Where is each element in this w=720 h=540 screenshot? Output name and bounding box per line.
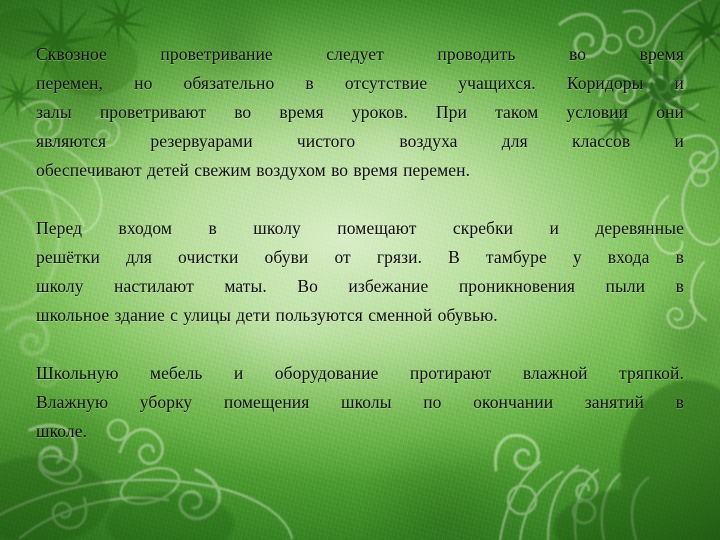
text-word: школы [341, 388, 392, 417]
paragraph-2: Передвходомвшколупомещаютскребкиидеревян… [36, 214, 684, 330]
text-word: школу [36, 272, 84, 301]
text-word: деревянные [595, 214, 684, 243]
text-word: чистого [297, 127, 355, 156]
text-word: резервуарами [150, 127, 252, 156]
text-word: свежим [194, 156, 251, 185]
text-word: залы [36, 98, 72, 127]
text-word: В [448, 243, 460, 272]
paragraph-1-line-3: залыпроветриваютвовремяуроков.Притакомус… [36, 98, 684, 127]
text-word: Перед [36, 214, 82, 243]
text-word: обуви [265, 243, 309, 272]
text-word: мебель [150, 359, 203, 388]
text-word: входа [608, 243, 650, 272]
text-word: но [134, 69, 152, 98]
paragraph-1: Сквозноепроветриваниеследуетпроводитьвов… [36, 40, 684, 185]
text-word: следует [326, 40, 384, 69]
text-word: в [676, 388, 684, 417]
text-word: время [640, 40, 684, 69]
paragraph-3-line-3: школе. [36, 417, 684, 446]
text-word: перемен, [36, 69, 103, 98]
text-word: время [353, 156, 397, 185]
text-word: Сквозное [36, 40, 107, 69]
text-word: проникновения [459, 272, 575, 301]
paragraph-1-line-1: Сквозноепроветриваниеследуетпроводитьвов… [36, 40, 684, 69]
text-word: проводить [437, 40, 515, 69]
text-word: во [569, 40, 586, 69]
text-word: и [675, 69, 684, 98]
text-word: во [234, 98, 251, 127]
text-word: занятий [585, 388, 644, 417]
text-word: школе. [36, 417, 87, 446]
text-word: окончании [473, 388, 553, 417]
text-word: уроков. [352, 98, 408, 127]
text-word: классов [572, 127, 630, 156]
text-word: в [305, 69, 313, 98]
text-word: время [279, 98, 323, 127]
text-word: тамбуре [486, 243, 547, 272]
text-word: для [126, 243, 152, 272]
text-word: проветривание [160, 40, 272, 69]
text-word: избежание [348, 272, 428, 301]
text-word: влажной [523, 359, 588, 388]
text-word: для [502, 127, 528, 156]
text-word: помещения [224, 388, 310, 417]
paragraph-2-line-2: решёткидляочисткиобувиотгрязи.Втамбуреув… [36, 243, 684, 272]
text-word: у [573, 243, 582, 272]
paragraph-3-line-2: Влажнуюуборкупомещенияшколыпоокончанииза… [36, 388, 684, 417]
text-word: по [423, 388, 441, 417]
text-word: во [331, 156, 348, 185]
text-word: от [334, 243, 350, 272]
text-word: в [676, 243, 684, 272]
text-word: тряпкой. [619, 359, 684, 388]
text-word: обувью. [438, 301, 498, 330]
text-word: грязи. [377, 243, 422, 272]
text-word: скребки [453, 214, 513, 243]
text-word: условии [566, 98, 628, 127]
text-word: сменной [368, 301, 432, 330]
text-word: в [209, 214, 217, 243]
paragraph-1-line-4: являютсярезервуарамичистоговоздухадлякла… [36, 127, 684, 156]
slide-text-body: Сквозноепроветриваниеследуетпроводитьвов… [36, 40, 684, 446]
paragraph-3-line-1: Школьнуюмебельиоборудованиепротираютвлаж… [36, 359, 684, 388]
text-word: таком [495, 98, 538, 127]
text-word: оборудование [275, 359, 379, 388]
text-word: здание [114, 301, 164, 330]
text-word: школьное [36, 301, 109, 330]
text-word: Влажную [36, 388, 108, 417]
text-word: помещают [337, 214, 416, 243]
text-word: обеспечивают [36, 156, 142, 185]
paragraph-2-line-3: школунастилаютматы.Воизбежаниепроникнове… [36, 272, 684, 301]
text-word: При [436, 98, 467, 127]
text-word: отсутствие [345, 69, 427, 98]
text-word: воздуха [399, 127, 457, 156]
text-word: в [676, 272, 684, 301]
text-word: маты. [224, 272, 267, 301]
text-word: и [234, 359, 243, 388]
paragraph-1-line-5: обеспечиваютдетейсвежимвоздухомвовремяпе… [36, 156, 684, 185]
paragraph-2-line-4: школьноезданиесулицыдетипользуютсясменно… [36, 301, 684, 330]
paragraph-3: Школьнуюмебельиоборудованиепротираютвлаж… [36, 359, 684, 446]
text-word: Школьную [36, 359, 119, 388]
text-word: пользуются [276, 301, 363, 330]
text-word: решётки [36, 243, 100, 272]
text-word: обязательно [184, 69, 275, 98]
text-word: пыли [606, 272, 646, 301]
text-word: Во [297, 272, 318, 301]
text-word: и [674, 127, 683, 156]
text-word: протирают [410, 359, 492, 388]
text-word: учащихся. [458, 69, 536, 98]
paragraph-2-line-1: Передвходомвшколупомещаютскребкиидеревян… [36, 214, 684, 243]
text-word: входом [119, 214, 173, 243]
text-word: настилают [114, 272, 194, 301]
text-word: они [656, 98, 684, 127]
text-word: и [550, 214, 559, 243]
presentation-slide: Сквозноепроветриваниеследуетпроводитьвов… [0, 0, 720, 540]
text-word: Коридоры [567, 69, 644, 98]
text-word: проветривают [100, 98, 206, 127]
text-word: уборку [140, 388, 193, 417]
text-word: воздухом [256, 156, 326, 185]
text-word: детей [147, 156, 189, 185]
text-word: улицы [183, 301, 231, 330]
text-word: являются [36, 127, 106, 156]
paragraph-1-line-2: перемен,нообязательновотсутствиеучащихся… [36, 69, 684, 98]
text-word: дети [236, 301, 270, 330]
text-word: перемен. [403, 156, 470, 185]
text-word: очистки [178, 243, 238, 272]
text-word: с [170, 301, 178, 330]
text-word: школу [253, 214, 301, 243]
